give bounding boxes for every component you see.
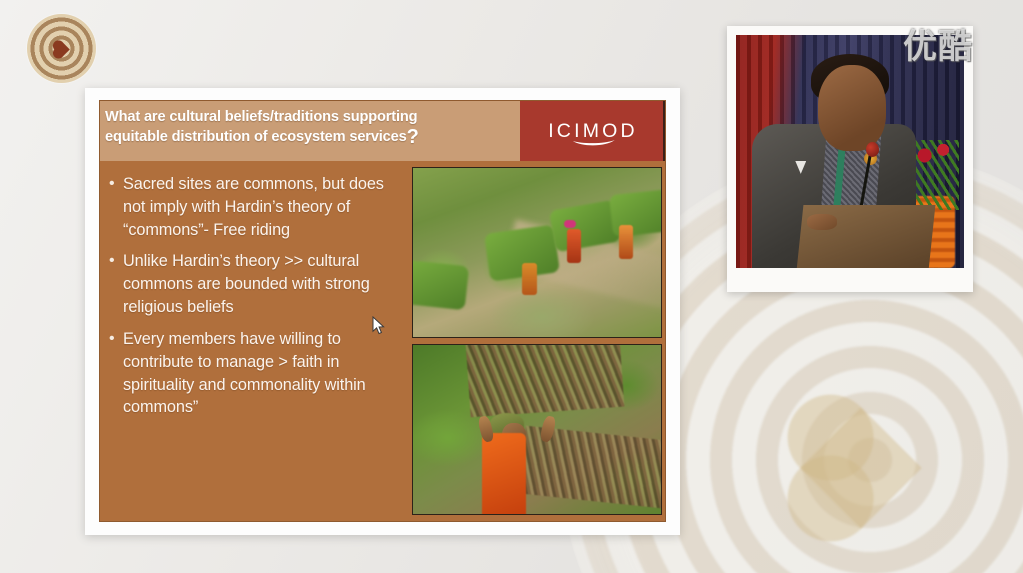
flower-arrangement xyxy=(915,140,959,210)
person-figure xyxy=(522,263,537,295)
photo-women-carrying-green-fodder xyxy=(412,167,662,338)
heart-icon xyxy=(54,41,70,57)
bullet-marker-icon: • xyxy=(107,328,123,419)
list-item: • Every members have willing to contribu… xyxy=(107,328,405,419)
list-item: • Unlike Hardin’s theory >> cultural com… xyxy=(107,250,405,318)
slide-photo-column xyxy=(412,161,665,521)
slide-bullet-list: • Sacred sites are commons, but does not… xyxy=(100,161,412,521)
speaker-hands xyxy=(807,214,837,230)
speaker-at-podium-image xyxy=(736,35,964,268)
concentric-rings-heart-logo[interactable] xyxy=(27,14,96,83)
bullet-marker-icon: • xyxy=(107,173,123,241)
bullet-text: Unlike Hardin’s theory >> cultural commo… xyxy=(123,250,405,318)
slide-title-line-1: What are cultural beliefs/traditions sup… xyxy=(105,109,417,125)
firewood-bundle xyxy=(465,344,624,418)
slide-title-band: What are cultural beliefs/traditions sup… xyxy=(100,101,665,161)
person-figure xyxy=(567,229,581,263)
youku-watermark: 优酷 xyxy=(903,30,973,64)
bullet-text: Sacred sites are commons, but does not i… xyxy=(123,173,405,241)
fodder-bundle xyxy=(412,259,469,309)
list-item: • Sacred sites are commons, but does not… xyxy=(107,173,405,241)
bullet-text: Every members have willing to contribute… xyxy=(123,328,405,419)
slide-title-question-mark: ? xyxy=(407,126,419,148)
slide-canvas: What are cultural beliefs/traditions sup… xyxy=(99,100,666,522)
icimod-swoosh-icon xyxy=(571,139,615,148)
icimod-logo: ICIMOD xyxy=(520,101,665,161)
slide-title: What are cultural beliefs/traditions sup… xyxy=(100,101,520,161)
slide-title-line-2: equitable distribution of ecosystem serv… xyxy=(105,129,407,145)
presentation-slide[interactable]: What are cultural beliefs/traditions sup… xyxy=(85,88,680,535)
fodder-bundle xyxy=(609,189,662,237)
speaker-head xyxy=(818,65,886,151)
orange-dress xyxy=(482,433,526,515)
bullet-marker-icon: • xyxy=(107,250,123,318)
slide-body: • Sacred sites are commons, but does not… xyxy=(100,161,665,521)
photo-woman-carrying-firewood xyxy=(412,344,662,515)
person-figure xyxy=(619,225,633,259)
